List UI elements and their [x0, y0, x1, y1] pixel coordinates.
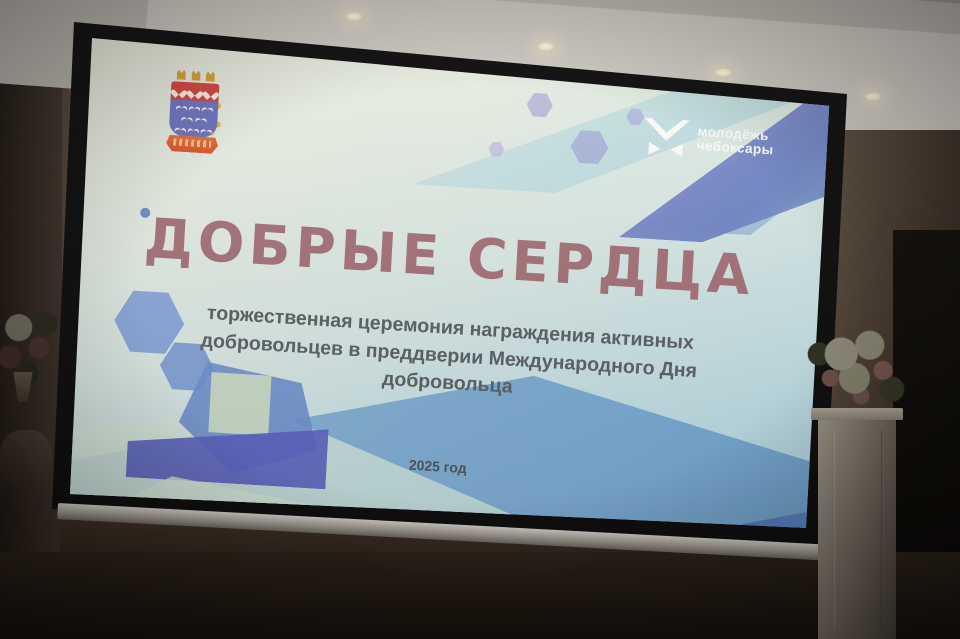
heart-icon — [174, 86, 184, 96]
wall-accent-left — [0, 430, 52, 490]
flower-arrangement-left — [0, 300, 74, 392]
flower-arrangement-right — [806, 310, 916, 420]
heart-icon — [190, 87, 200, 97]
floor — [0, 552, 960, 639]
logo-line-2: Чебоксары — [696, 139, 774, 158]
decor-hexagon — [526, 91, 553, 119]
birds-group — [169, 100, 219, 138]
pedestal-column — [818, 408, 896, 639]
ceiling-spot-light — [864, 92, 882, 101]
conference-hall-scene: молодёжь Чебоксары ДОБРЫЕ СЕРДЦА торжест… — [0, 0, 960, 639]
shield-icon — [169, 81, 220, 138]
bird-icon — [195, 115, 206, 124]
youth-cheboksary-logo: молодёжь Чебоксары — [640, 112, 802, 168]
bird-icon — [181, 114, 192, 123]
bird-icon — [176, 102, 187, 111]
projection-screen: молодёжь Чебоксары ДОБРЫЕ СЕРДЦА торжест… — [52, 8, 862, 553]
shield-band — [171, 81, 220, 102]
logo-text: молодёжь Чебоксары — [696, 125, 774, 158]
bird-icon — [201, 126, 212, 135]
bird-icon — [188, 125, 199, 134]
bird-icon — [202, 104, 213, 113]
bird-icon — [175, 124, 186, 133]
heart-icon — [206, 88, 216, 98]
chevron-mark-icon — [640, 115, 692, 158]
presentation-slide: молодёжь Чебоксары ДОБРЫЕ СЕРДЦА торжест… — [64, 34, 830, 549]
crown-icon — [177, 67, 216, 81]
coat-of-arms-icon — [159, 67, 228, 163]
bird-icon — [189, 103, 200, 112]
